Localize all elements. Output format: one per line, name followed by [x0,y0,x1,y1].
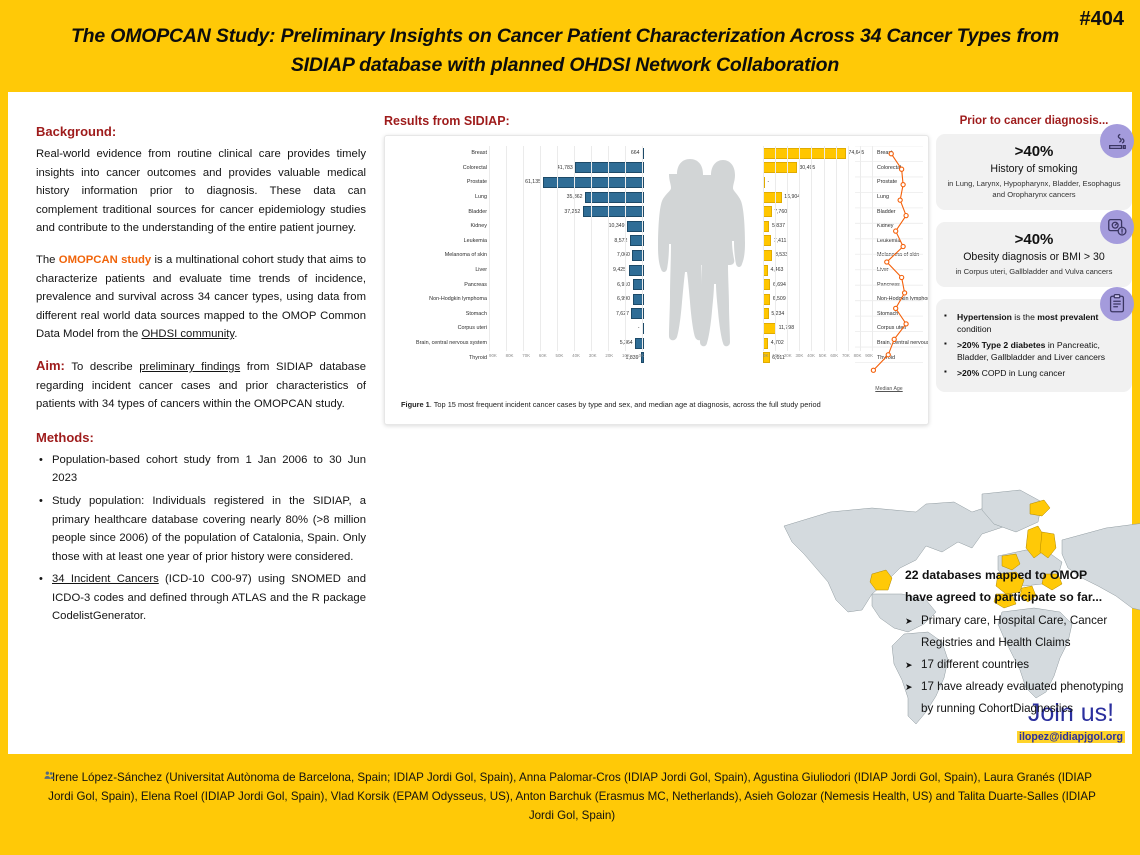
chart-bar-value: 5,234 [769,311,787,317]
aim-label: Aim: [36,358,65,373]
background-paragraph-1: Real-world evidence from routine clinica… [36,145,366,238]
axis-tick-label: 70K [842,353,850,365]
chart-bar-value: 11,798 [776,325,796,331]
chart-bar [575,162,644,173]
methods-heading: Methods: [36,430,366,445]
chart-bars-male: 66441,78361,13535,86237,25210,3498,5727,… [489,146,644,365]
chart-bar-value: 5,837 [769,223,787,229]
chart-bar-value: 35,862 [564,194,585,200]
chart-bar-row-male: 6,990 [489,292,644,307]
chart-category-label: Pancreas [393,277,487,292]
chart-bar [631,308,644,319]
databases-title-line2: have agreed to participate so far... [905,586,1135,608]
chart-bar-row-male: 8,572 [489,234,644,249]
axis-tick-label: 70K [522,353,530,365]
chart-bar [763,162,797,173]
list-item: 17 different countries [905,654,1135,676]
chart-bar [583,206,644,217]
axis-tick-label: 30K [795,353,803,365]
axis-tick-label: 60K [830,353,838,365]
fact-main-text: History of smoking [946,162,1122,176]
column-left: Background: Real-world evidence from rou… [36,124,366,630]
bullet-strong: >20% [957,368,979,378]
chart-category-label: Lung [393,190,487,205]
axis-tick-label: 0K [639,353,644,365]
chart-category-label: Kidney [393,219,487,234]
bullet-mid: Type 2 diabetes [979,340,1045,350]
bullet-strong-mid: most prevalent [1037,312,1098,322]
poster-footer: Irene López-Sánchez (Universitat Autònom… [0,754,1140,855]
chart-bar [632,250,644,261]
median-age-line [855,146,923,378]
chart-bar [763,235,771,246]
axis-tick-label: 0K [763,353,768,365]
background-paragraph-2: The OMOPCAN study is a multinational coh… [36,251,366,344]
background-heading: Background: [36,124,366,139]
fact-sub-text: in Lung, Larynx, Hypopharynx, Bladder, E… [946,178,1122,200]
chart-bar [642,323,644,334]
chart-bar [763,192,782,203]
fact-main-text: Obesity diagnosis or BMI > 30 [946,250,1122,264]
aim-pre: To describe [65,361,139,373]
people-icon [44,770,54,781]
results-heading: Results from SIDIAP: [384,114,929,128]
chart-bar-row-male: 37,252 [489,204,644,219]
methods-list: Population-based cohort study from 1 Jan… [36,451,366,626]
chart-category-label: Liver [393,263,487,278]
gender-silhouettes [647,140,757,386]
list-item: >20% Type 2 diabetes in Pancreatic, Blad… [944,339,1122,364]
page-title: The OMOPCAN Study: Preliminary Insights … [60,22,1070,80]
chart-bar-row-male: 41,783 [489,161,644,176]
bullet-post: condition [957,324,991,334]
chart-bar [763,206,772,217]
preliminary-findings-link[interactable]: preliminary findings [139,361,240,373]
chart-category-labels-left: BreastColorectalProstateLungBladderKidne… [393,146,487,365]
chart-bar-row-male: 35,862 [489,190,644,205]
chart-bar-value: 6,990 [615,296,633,302]
chart-bar-value: 10,349 [606,223,627,229]
chart-bar-value: 61,135 [523,179,544,185]
chart-bar-value: 6,694 [770,282,788,288]
chart-bar-value: 8,533 [772,252,790,258]
chart-bar-value: 7,411 [771,238,789,244]
chart-bar-value: 5,364 [617,340,635,346]
databases-block: 22 databases mapped to OMOP have agreed … [905,564,1135,720]
column-right: Prior to cancer diagnosis... >40% Histor… [936,114,1132,404]
poster-root: The OMOPCAN Study: Preliminary Insights … [0,0,1140,855]
databases-title-line1: 22 databases mapped to OMOP [905,564,1135,586]
chart-category-label: Non-Hodgkin lymphoma [393,292,487,307]
poster-number-badge: #404 [1080,8,1125,31]
list-item: Study population: Individuals registered… [36,492,366,566]
chart-bar [585,192,644,203]
axis-tick-label: 80K [506,353,514,365]
figure-caption-text: . Top 15 most frequent incident cancer c… [430,400,821,409]
chart-category-label: Thyroid [393,350,487,365]
chart-bar [763,148,846,159]
author-list: Irene López-Sánchez (Universitat Autònom… [40,768,1104,825]
chart-category-label: Melanoma of skin [393,248,487,263]
list-item: >20% COPD in Lung cancer [944,367,1122,379]
chart-bar [763,294,770,305]
bullet-post: in Lung cancer [1006,368,1065,378]
chart-bar-value: - [765,179,772,185]
chart-bar-value: 7,760 [772,209,790,215]
list-item: 17 have already evaluated phenotyping by… [905,676,1135,720]
list-item: Primary care, Hospital Care, Cancer Regi… [905,610,1135,654]
incident-cancers-link[interactable]: 34 Incident Cancers [52,573,159,585]
chart-category-label: Leukemia [393,234,487,249]
chart-category-label: Stomach [393,307,487,322]
chart-bar-value: 16,904 [782,194,803,200]
author-text: Irene López-Sánchez (Universitat Autònom… [48,771,1096,822]
smoking-icon [1100,124,1134,158]
contact-email[interactable]: ilopez@idiapjgol.org [1017,731,1125,743]
axis-tick-label: 60K [539,353,547,365]
chart-category-label: Brain, central nervous system [393,336,487,351]
chart-bar-row-male: 10,349 [489,219,644,234]
chart-bar-row-male: - [489,321,644,336]
chart-bar [763,323,776,334]
chart-category-label: Breast [393,146,487,161]
axis-tick-label: 10K [772,353,780,365]
column-middle: Results from SIDIAP: BreastColorectalPro… [384,114,929,425]
poster-body: Background: Real-world evidence from rou… [8,92,1132,754]
bg2-pre: The [36,254,59,266]
chart-bar-row-male: 9,425 [489,263,644,278]
chart-bar-value: 7,627 [613,311,631,317]
fact-card-obesity: >40% Obesity diagnosis or BMI > 30 in Co… [936,222,1132,287]
axis-tick-label: 20K [605,353,613,365]
list-item: Population-based cohort study from 1 Jan… [36,451,366,488]
chart-bar [633,279,644,290]
chart-bar [642,148,644,159]
chart-bar [633,294,644,305]
chart-bar-value: 41,783 [554,165,575,171]
fact-percent: >40% [946,143,1122,161]
list-item: 34 Incident Cancers (ICD-10 C00-97) usin… [36,570,366,626]
chart-bar [635,338,644,349]
chart-bar-value: 6,910 [615,282,633,288]
chart-category-label: Prostate [393,175,487,190]
databases-list: Primary care, Hospital Care, Cancer Regi… [905,610,1135,720]
fact-card-comorbidities: Hypertension is the most prevalent condi… [936,299,1132,392]
chart-bar-value: 30,495 [797,165,818,171]
figure-1-card: BreastColorectalProstateLungBladderKidne… [384,135,929,425]
chart-bar [763,250,772,261]
list-item: Hypertension is the most prevalent condi… [944,311,1122,336]
chart-bar-row-male: 7,060 [489,248,644,263]
chart-bar-value: 4,463 [768,267,786,273]
chart-category-label: Colorectal [393,161,487,176]
axis-tick-label: 40K [807,353,815,365]
chart-bar-value: 9,425 [611,267,629,273]
bullet-strong: Hypertension [957,312,1012,322]
chart-axis-left: 90K80K70K60K50K40K30K20K10K0K [489,353,644,365]
axis-tick-label: 10K [622,353,630,365]
ohdsi-community-link[interactable]: OHDSI community [141,328,234,340]
chart-area: BreastColorectalProstateLungBladderKidne… [385,140,929,390]
chart-bar [629,265,644,276]
chart-bar-value: 7,060 [614,252,632,258]
bullet-mid: is the [1012,312,1037,322]
fact-sub-text: in Corpus uteri, Gallbladder and Vulva c… [946,266,1122,277]
axis-tick-label: 40K [572,353,580,365]
chart-bar-value: 4,702 [768,340,786,346]
omopcan-study-highlight: OMOPCAN study [59,254,151,266]
chart-category-label: Corpus uteri [393,321,487,336]
comorbidity-list: Hypertension is the most prevalent condi… [944,311,1122,379]
axis-tick-label: 90K [489,353,497,365]
chart-bar [763,279,770,290]
chart-category-label: Bladder [393,204,487,219]
figure-caption: Figure 1. Top 15 most frequent incident … [401,399,912,410]
axis-tick-label: 50K [819,353,827,365]
chart-bar-value: 8,572 [612,238,630,244]
chart-bar [543,177,644,188]
chart-bar-value: - [635,325,642,331]
axis-tick-label: 30K [589,353,597,365]
chart-bar-row-male: 5,364 [489,336,644,351]
chart-bar-row-male: 61,135 [489,175,644,190]
poster-header: The OMOPCAN Study: Preliminary Insights … [0,0,1140,92]
chart-bar [627,221,644,232]
axis-tick-label: 50K [556,353,564,365]
fact-percent: >40% [946,231,1122,249]
chart-bar-value: 6,509 [770,296,788,302]
chart-bar-value: 37,252 [562,209,583,215]
bullet-mid: COPD [979,368,1006,378]
median-age-panel: Median Age [855,146,923,390]
bullet-strong: >20% [957,340,979,350]
chart-bar-row-male: 7,627 [489,307,644,322]
chart-bar-row-male: 664 [489,146,644,161]
chart-bar-value: 664 [628,150,642,156]
axis-tick-label: 20K [784,353,792,365]
chart-bar [630,235,644,246]
median-age-axis-label: Median Age [855,386,923,392]
figure-caption-label: Figure 1 [401,400,430,409]
fact-card-smoking: >40% History of smoking in Lung, Larynx,… [936,134,1132,210]
prior-diagnosis-heading: Prior to cancer diagnosis... [936,114,1132,127]
weight-scale-icon [1100,210,1134,244]
aim-paragraph: Aim: To describe preliminary findings fr… [36,357,366,414]
chart-bar-row-male: 6,910 [489,277,644,292]
bg2-post: . [234,328,237,340]
